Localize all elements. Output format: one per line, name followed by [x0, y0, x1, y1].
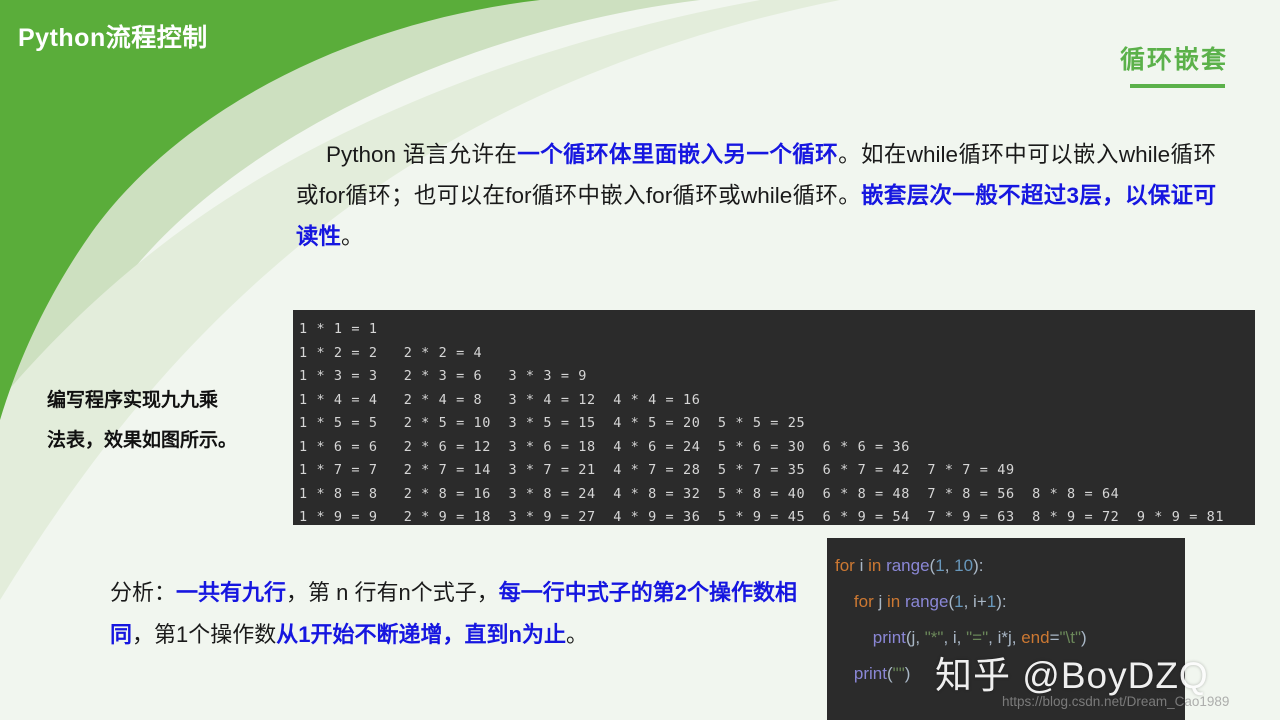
page-title: Python流程控制 — [18, 18, 208, 54]
code-token: ) — [905, 664, 911, 683]
terminal-line: 1 * 2 = 2 2 * 2 = 4 — [293, 342, 1255, 366]
code-token: in — [887, 592, 900, 611]
terminal-line: 1 * 9 = 9 2 * 9 = 18 3 * 9 = 27 4 * 9 = … — [293, 506, 1255, 525]
code-token: ): — [996, 592, 1006, 611]
code-token: in — [868, 556, 881, 575]
code-token: 10 — [954, 556, 973, 575]
analysis-highlight-3: 从1开始不断递增，直到n为止 — [276, 622, 566, 647]
left-caption-line-2: 法表，效果如图所示。 — [47, 421, 283, 461]
watermark-text: 知乎 @BoyDZQ — [935, 645, 1209, 699]
code-token — [835, 628, 873, 647]
terminal-line: 1 * 3 = 3 2 * 3 = 6 3 * 3 = 9 — [293, 365, 1255, 389]
intro-highlight-1: 一个循环体里面嵌入另一个循环 — [517, 142, 838, 167]
terminal-output-panel: 1 * 1 = 11 * 2 = 2 2 * 2 = 41 * 3 = 3 2 … — [293, 310, 1255, 525]
code-token: ): — [973, 556, 983, 575]
code-line: for j in range(1, i+1): — [827, 584, 1185, 620]
analysis-label: 分析： — [110, 580, 176, 605]
code-line: for i in range(1, 10): — [827, 548, 1185, 584]
code-token: for — [835, 556, 855, 575]
terminal-line: 1 * 8 = 8 2 * 8 = 16 3 * 8 = 24 4 * 8 = … — [293, 483, 1255, 507]
intro-paragraph: Python 语言允许在一个循环体里面嵌入另一个循环。如在while循环中可以嵌… — [296, 134, 1216, 257]
code-token: print — [873, 628, 906, 647]
analysis-segment-2: ，第1个操作数 — [132, 622, 276, 647]
code-token: i+ — [973, 592, 987, 611]
terminal-line: 1 * 7 = 7 2 * 7 = 14 3 * 7 = 21 4 * 7 = … — [293, 459, 1255, 483]
code-token — [835, 592, 854, 611]
code-token: range — [905, 592, 948, 611]
code-token: print — [854, 664, 887, 683]
intro-segment-3: 。 — [341, 224, 364, 249]
analysis-segment-3: 。 — [566, 622, 588, 647]
code-token: (j, — [906, 628, 925, 647]
terminal-line: 1 * 5 = 5 2 * 5 = 10 3 * 5 = 15 4 * 5 = … — [293, 412, 1255, 436]
code-token: for — [854, 592, 874, 611]
code-token: 1 — [987, 592, 996, 611]
intro-segment-1: Python 语言允许在 — [326, 142, 517, 167]
code-token: , — [945, 556, 954, 575]
left-caption: 编写程序实现九九乘 法表，效果如图所示。 — [47, 381, 283, 461]
left-caption-line-1: 编写程序实现九九乘 — [47, 381, 283, 421]
terminal-line: 1 * 6 = 6 2 * 6 = 12 3 * 6 = 18 4 * 6 = … — [293, 436, 1255, 460]
terminal-line: 1 * 4 = 4 2 * 4 = 8 3 * 4 = 12 4 * 4 = 1… — [293, 389, 1255, 413]
terminal-line: 1 * 1 = 1 — [293, 318, 1255, 342]
analysis-segment-1: ，第 n 行有n个式子， — [286, 580, 499, 605]
section-title: 循环嵌套 — [1120, 40, 1228, 76]
code-token — [835, 664, 854, 683]
analysis-highlight-1: 一共有九行 — [176, 580, 286, 605]
code-token: 1 — [954, 592, 963, 611]
code-token: , — [964, 592, 973, 611]
code-token: range — [886, 556, 929, 575]
section-title-underline — [1130, 84, 1225, 88]
slide-canvas: Python流程控制 循环嵌套 Python 语言允许在一个循环体里面嵌入另一个… — [0, 0, 1280, 720]
analysis-paragraph: 分析：一共有九行，第 n 行有n个式子，每一行中式子的第2个操作数相同，第1个操… — [110, 572, 800, 656]
code-token: 1 — [935, 556, 944, 575]
code-token: "" — [893, 664, 905, 683]
